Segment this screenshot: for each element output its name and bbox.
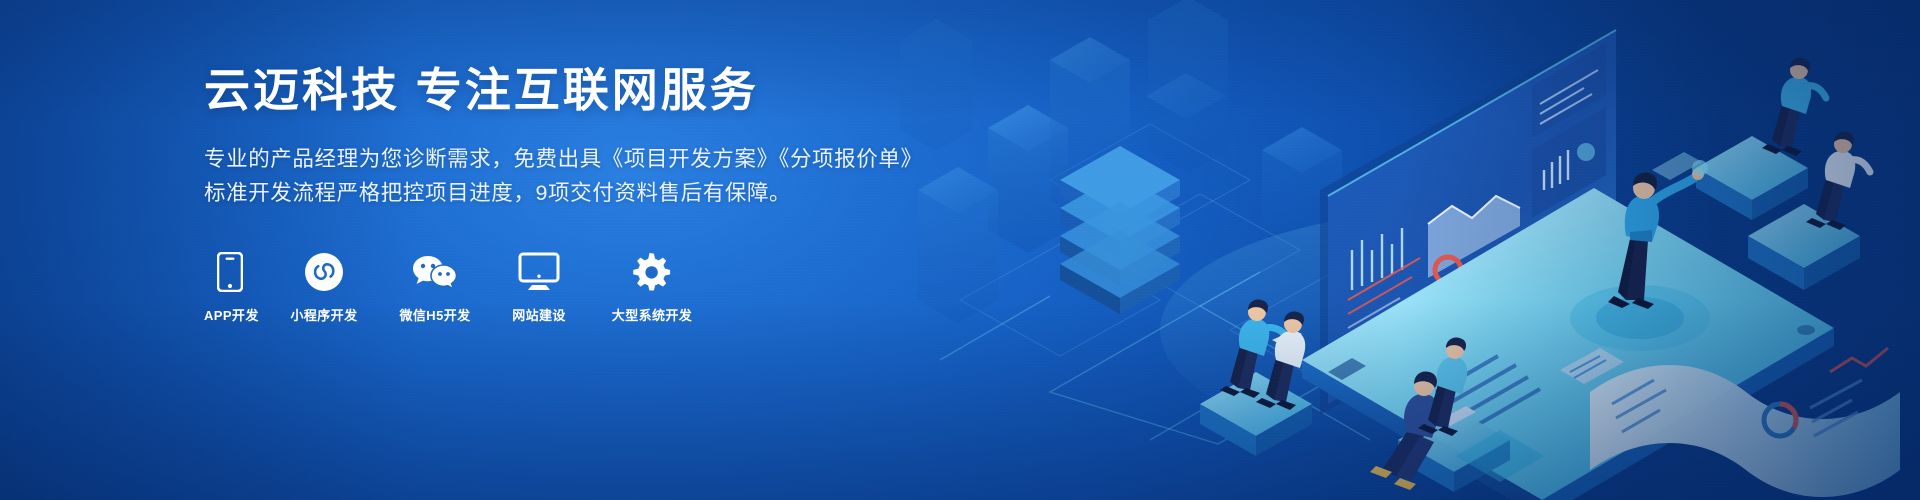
service-label-website: 网站建设 — [502, 305, 576, 324]
service-item-large-system[interactable]: 大型系统开发 — [600, 246, 704, 324]
hero-banner: 云迈科技 专注互联网服务 专业的产品经理为您诊断需求，免费出具《项目开发方案》《… — [0, 0, 1920, 500]
service-item-app[interactable]: APP开发 — [204, 246, 256, 324]
smartphone-icon — [204, 246, 256, 292]
service-item-wechat-h5[interactable]: 微信H5开发 — [392, 246, 478, 324]
service-label-large-system: 大型系统开发 — [600, 305, 704, 324]
person-on-cube — [1762, 57, 1826, 156]
isometric-illustration — [900, 0, 1920, 500]
subtitle-line-1: 专业的产品经理为您诊断需求，免费出具《项目开发方案》《分项报价单》 — [204, 142, 904, 176]
banner-title: 云迈科技 专注互联网服务 — [204, 62, 904, 120]
banner-content: 云迈科技 专注互联网服务 专业的产品经理为您诊断需求，免费出具《项目开发方案》《… — [204, 62, 904, 324]
service-item-mini-program[interactable]: 小程序开发 — [280, 246, 368, 324]
subtitle-line-2: 标准开发流程严格把控项目进度，9项交付资料售后有保障。 — [204, 176, 904, 210]
wechat-icon — [392, 246, 478, 292]
gear-icon — [600, 246, 704, 292]
service-label-app: APP开发 — [204, 305, 256, 324]
service-label-wechat-h5: 微信H5开发 — [392, 305, 478, 324]
server-stack — [1060, 146, 1180, 314]
service-label-mini-program: 小程序开发 — [280, 305, 368, 324]
service-item-website[interactable]: 网站建设 — [502, 246, 576, 324]
monitor-icon — [502, 246, 576, 292]
mini-program-icon — [280, 246, 368, 292]
banner-subtitle: 专业的产品经理为您诊断需求，免费出具《项目开发方案》《分项报价单》 标准开发流程… — [204, 142, 904, 210]
service-list: APP开发 小程序开发 — [204, 246, 904, 324]
